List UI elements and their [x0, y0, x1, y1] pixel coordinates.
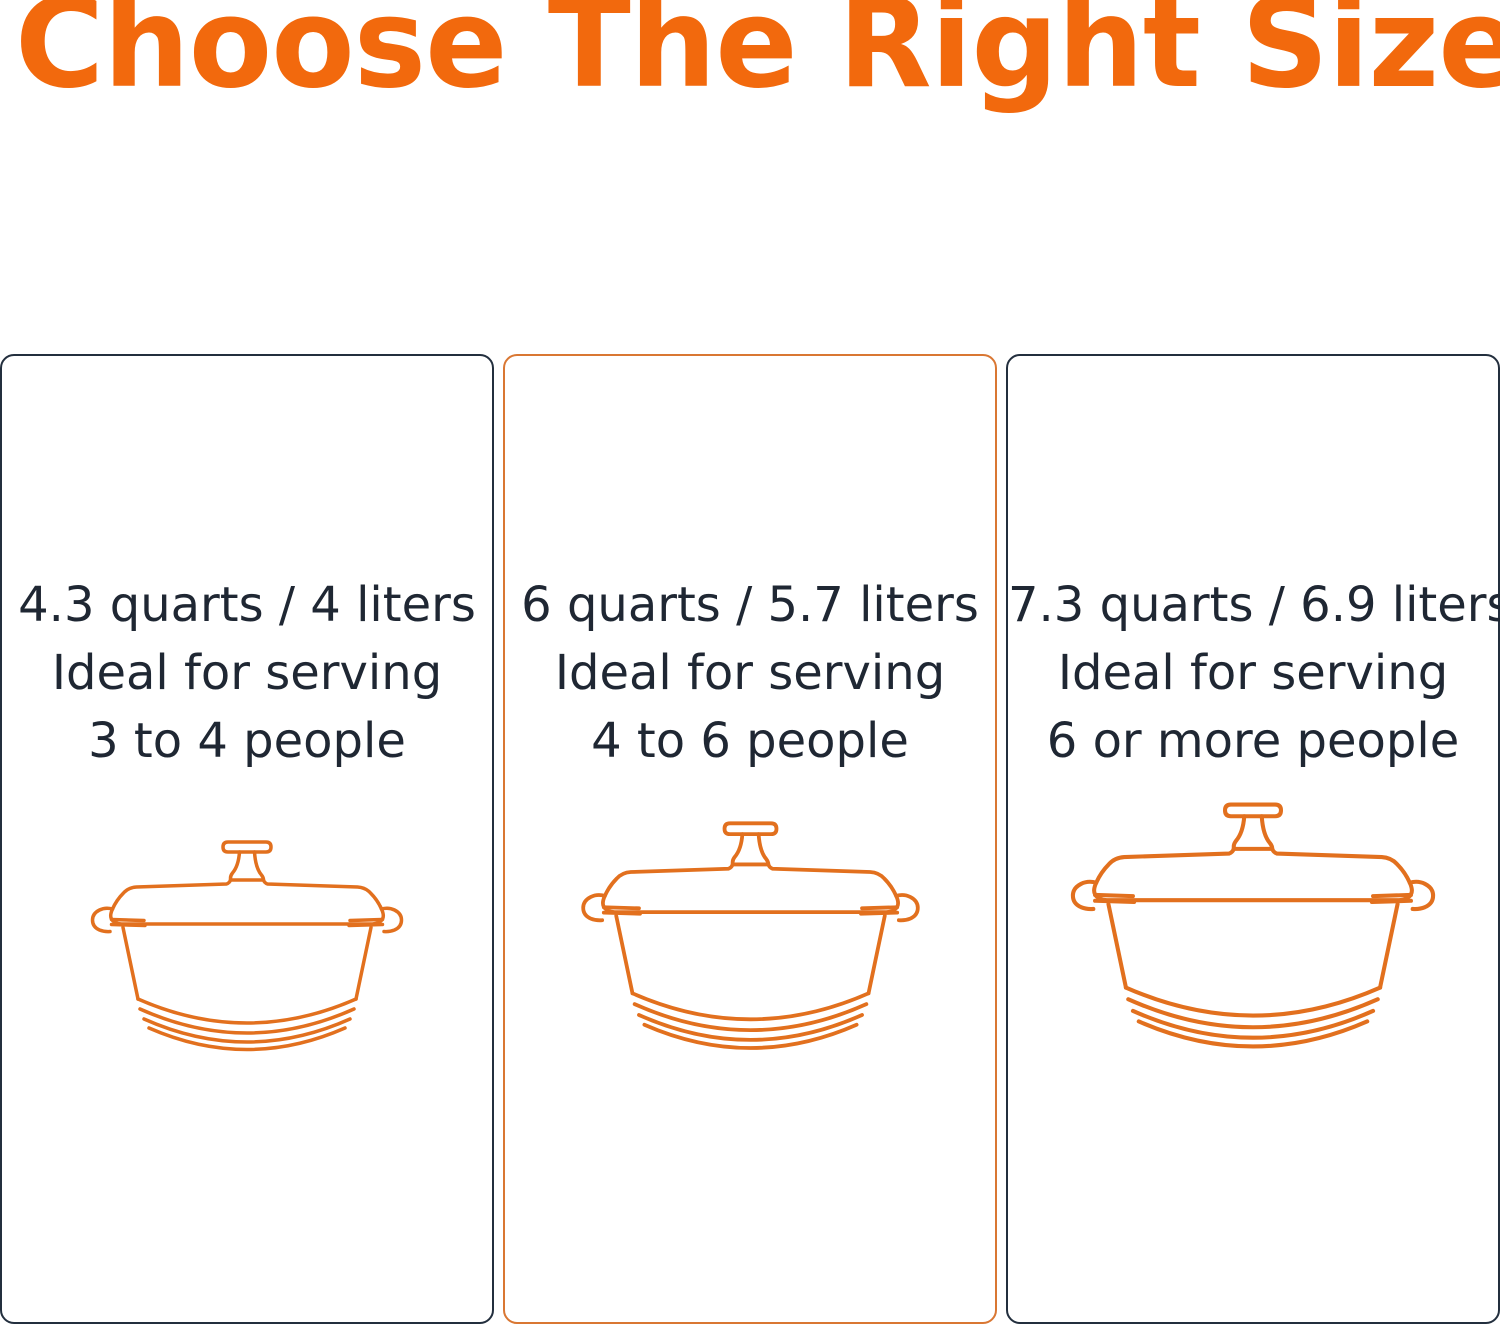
size-card-medium-text: 6 quarts / 5.7 liters Ideal for serving …	[505, 571, 995, 775]
serving-label: Ideal for serving	[2, 639, 492, 707]
capacity-label: 4.3 quarts / 4 liters	[2, 571, 492, 639]
size-card-small[interactable]: 4.3 quarts / 4 liters Ideal for serving …	[0, 354, 494, 1324]
serving-label: Ideal for serving	[1008, 639, 1498, 707]
serving-count-label: 4 to 6 people	[505, 707, 995, 775]
dutch-oven-icon	[84, 828, 410, 1054]
size-card-small-text: 4.3 quarts / 4 liters Ideal for serving …	[2, 571, 492, 775]
capacity-label: 6 quarts / 5.7 liters	[505, 571, 995, 639]
size-card-large-text: 7.3 quarts / 6.9 liters Ideal for servin…	[1008, 571, 1498, 775]
serving-count-label: 6 or more people	[1008, 707, 1498, 775]
size-options-row: 4.3 quarts / 4 liters Ideal for serving …	[0, 354, 1500, 1324]
capacity-label: 7.3 quarts / 6.9 liters	[1008, 571, 1498, 639]
size-card-medium[interactable]: 6 quarts / 5.7 liters Ideal for serving …	[503, 354, 997, 1324]
size-card-large[interactable]: 7.3 quarts / 6.9 liters Ideal for servin…	[1006, 354, 1500, 1324]
serving-count-label: 3 to 4 people	[2, 707, 492, 775]
dutch-oven-icon	[574, 808, 927, 1053]
page-title: Choose The Right Size	[15, 0, 1485, 106]
serving-label: Ideal for serving	[505, 639, 995, 707]
dutch-oven-icon	[1063, 788, 1443, 1052]
